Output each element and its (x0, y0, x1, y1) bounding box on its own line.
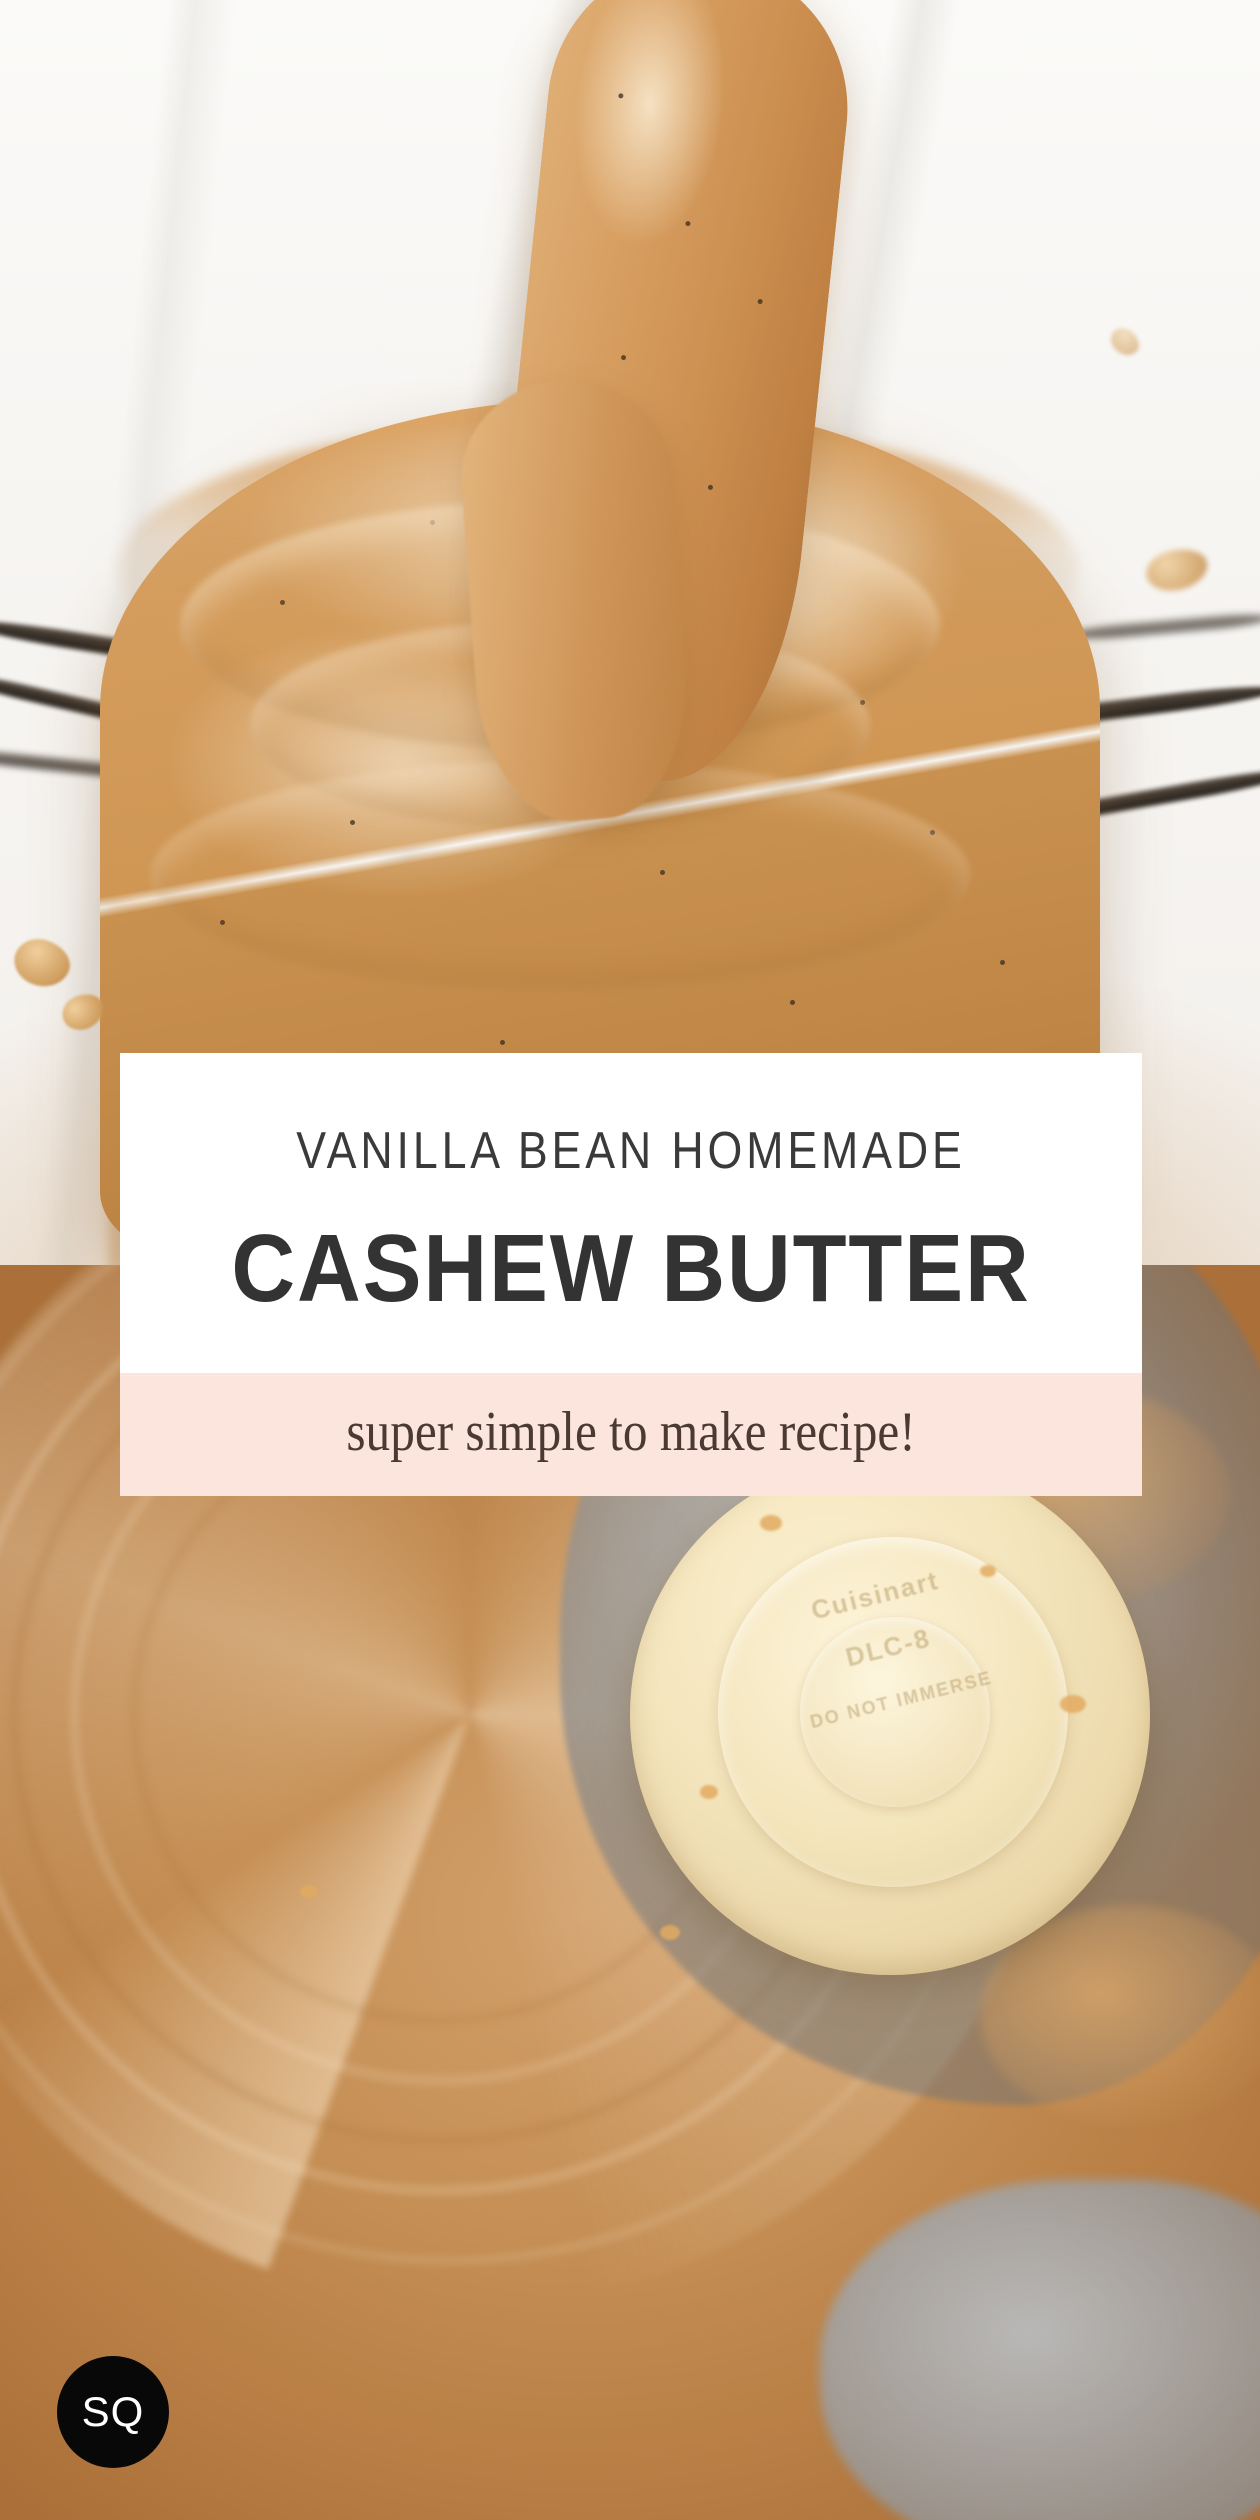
subtitle-text: super simple to make recipe! (199, 1403, 1063, 1462)
subtitle-panel: super simple to make recipe! (120, 1373, 1142, 1496)
steel-bowl-surface (820, 2180, 1260, 2520)
page-title: CASHEW BUTTER (183, 1221, 1079, 1317)
text-overlay-card: VANILLA BEAN HOMEMADE CASHEW BUTTER supe… (120, 1053, 1142, 1496)
title-panel: VANILLA BEAN HOMEMADE CASHEW BUTTER (120, 1053, 1142, 1373)
pinterest-recipe-pin: Cuisinart DLC-8 DO NOT IMMERSE VANILLA B… (0, 0, 1260, 2520)
sq-logo-badge[interactable]: SQ (57, 2356, 169, 2468)
eyebrow-text: VANILLA BEAN HOMEMADE (212, 1125, 1050, 1177)
sq-logo-text: SQ (82, 2391, 145, 2433)
